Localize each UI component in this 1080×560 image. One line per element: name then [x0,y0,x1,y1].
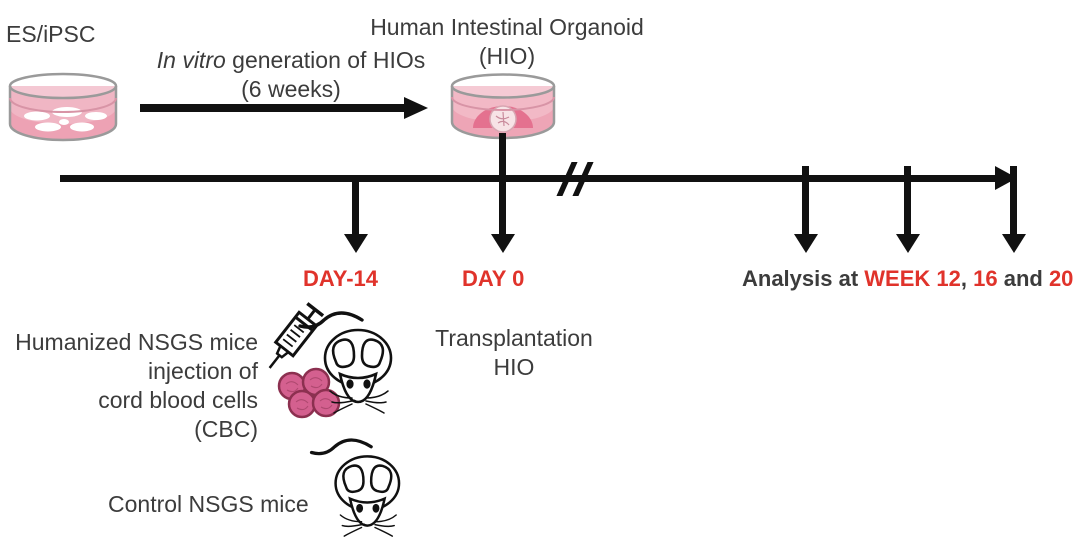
day-minus-14-label: DAY-14 [303,264,378,293]
humanized-line-2: injection of [148,358,258,384]
invitro-italic: In vitro [157,47,226,73]
tick-week-20 [1010,166,1017,236]
mouse-icon [300,424,425,556]
humanized-mice-label: Humanized NSGS mice injection of cord bl… [0,328,258,444]
hio-title-line2: (HIO) [479,43,535,69]
transplantation-label: Transplantation HIO [424,324,604,382]
hio-title-line1: Human Intestinal Organoid [370,14,644,40]
day-0-label: DAY 0 [462,264,524,293]
tick-day-minus-14 [352,178,359,236]
analysis-week-20: 20 [1049,266,1073,291]
analysis-prefix: Analysis at [742,266,864,291]
hio-title-label: Human Intestinal Organoid (HIO) [342,13,672,71]
humanized-line-1: Humanized NSGS mice [15,329,258,355]
figure-canvas: ES/iPSC In vitro generation of HIOs (6 w… [0,0,1080,560]
humanized-line-4: (CBC) [194,416,258,442]
tick-week-12 [802,166,809,236]
analysis-sep-1: , [961,266,973,291]
analysis-sep-2: and [998,266,1049,291]
hio-connector-stem [499,133,506,179]
transplantation-line-2: HIO [494,354,535,380]
process-arrow-head [404,97,428,119]
timeline-break-marker [560,162,600,196]
process-arrow-shaft [140,104,408,112]
humanized-line-3: cord blood cells [98,387,258,413]
analysis-caption: Analysis at WEEK 12, 16 and 20 [742,264,1073,293]
es-ipsc-label: ES/iPSC [6,20,95,49]
tick-week-16 [904,166,911,236]
transplantation-line-1: Transplantation [435,325,593,351]
analysis-week-16: 16 [973,266,997,291]
control-mice-label: Control NSGS mice [108,490,309,519]
timeline-axis [60,175,1010,182]
analysis-week-12: WEEK 12 [864,266,961,291]
tick-day-0 [499,178,506,236]
culture-dish-icon [4,72,122,150]
invitro-duration: (6 weeks) [241,76,341,102]
mouse-icon [288,300,418,430]
